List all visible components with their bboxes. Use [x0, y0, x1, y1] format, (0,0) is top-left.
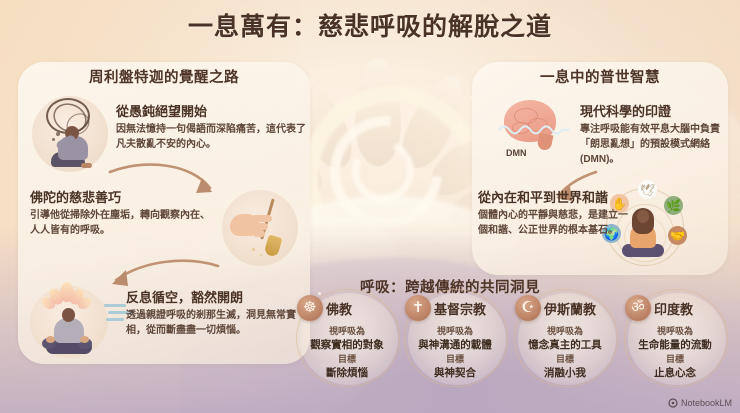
notebooklm-icon [668, 398, 678, 408]
left-block-3: 反息循空，豁然開朗 透過親證呼吸的剎那生滅，洞見無常實相，從而斷盡盡一切煩惱。 [126, 290, 302, 338]
religion-card-hinduism[interactable]: ॐ 印度教 視呼吸為 生命能量的流動 目標 止息心念 [622, 291, 728, 387]
dove-icon: 🕊 [638, 180, 657, 199]
dmn-caption: DMN [506, 148, 527, 158]
religion-goal: 與神契合 [402, 366, 508, 381]
handshake-icon: 🤝 [668, 226, 687, 245]
religion-goal: 斷除煩惱 [294, 366, 400, 381]
left-panel-title: 周利盤特迦的覺醒之路 [18, 66, 310, 87]
meditator-illustration [30, 286, 108, 358]
sad-person-illustration [32, 96, 108, 172]
left-block-2: 佛陀的慈悲善巧 引導他從掃除外在塵垢，轉向觀察內在、人人皆有的呼吸。 [30, 190, 216, 238]
label-goal: 目標 [512, 353, 618, 366]
right-block-1: 現代科學的印證 專注呼吸能有效平息大腦中負責「朗思亂想」的預設模式網絡 (DMN… [580, 104, 726, 167]
religion-view: 與神溝通的載體 [402, 338, 508, 353]
religion-view: 憶念真主的工具 [512, 338, 618, 353]
religion-view: 觀察實相的對象 [294, 338, 400, 353]
right-block-2: 從內在和平到世界和諧 個體內心的平靜與慈悲，是建立一個和諧、公正世界的根本基石。 [478, 190, 628, 238]
right-panel-title: 一息中的普世智慧 [472, 66, 728, 87]
religion-card-islam[interactable]: ☪ 伊斯蘭教 視呼吸為 憶念真主的工具 目標 消融小我 [512, 291, 618, 387]
right-block-1-head: 現代科學的印證 [580, 104, 726, 120]
watermark: NotebookLM [668, 398, 732, 408]
religion-goal: 消融小我 [512, 366, 618, 381]
religion-name: 佛教 [326, 299, 352, 318]
religion-goal: 止息心念 [622, 366, 728, 381]
right-block-2-body: 個體內心的平靜與慈悲，是建立一個和諧、公正世界的根本基石。 [478, 208, 628, 238]
dharma-wheel-icon: ☸ [297, 295, 323, 321]
religion-card-christianity[interactable]: ✝ 基督宗教 視呼吸為 與神溝通的載體 目標 與神契合 [402, 291, 508, 387]
label-view: 視呼吸為 [512, 325, 618, 338]
right-block-2-head: 從內在和平到世界和諧 [478, 190, 628, 206]
sparkle [458, 126, 461, 129]
label-view: 視呼吸為 [294, 325, 400, 338]
star-crescent-icon: ☪ [515, 295, 541, 321]
religion-name: 印度教 [654, 299, 693, 318]
right-block-1-body: 專注呼吸能有效平息大腦中負責「朗思亂想」的預設模式網絡 (DMN)。 [580, 122, 726, 167]
broom-illustration [222, 190, 298, 266]
left-block-2-body: 引導他從掃除外在塵垢，轉向觀察內在、人人皆有的呼吸。 [30, 208, 216, 238]
watermark-label: NotebookLM [681, 398, 732, 408]
brain-illustration: DMN [492, 96, 574, 160]
religion-name: 基督宗教 [434, 299, 486, 318]
religion-card-buddhism[interactable]: ☸ 佛教 視呼吸為 觀察實相的對象 目標 斷除煩惱 [294, 291, 400, 387]
left-block-2-head: 佛陀的慈悲善巧 [30, 190, 216, 206]
left-block-3-body: 透過親證呼吸的剎那生滅，洞見無常實相，從而斷盡盡一切煩惱。 [126, 308, 302, 338]
left-block-1-head: 從愚鈍絕望開始 [116, 104, 306, 120]
left-block-1-body: 因無法憶持一句偈語而深陷痛苦，這代表了凡夫散亂不安的內心。 [116, 122, 306, 152]
religion-name: 伊斯蘭教 [544, 299, 596, 318]
cross-icon: ✝ [405, 295, 431, 321]
label-goal: 目標 [402, 353, 508, 366]
label-view: 視呼吸為 [402, 325, 508, 338]
label-goal: 目標 [622, 353, 728, 366]
infographic-canvas: 一息萬有：慈悲呼吸的解脫之道 周利盤特迦的覺醒之路 從愚鈍絕望開始 因無法憶持一… [0, 0, 740, 413]
olive-branch-icon: 🌿 [664, 196, 683, 215]
om-icon: ॐ [625, 295, 651, 321]
page-title: 一息萬有：慈悲呼吸的解脫之道 [0, 7, 740, 43]
label-goal: 目標 [294, 353, 400, 366]
label-view: 視呼吸為 [622, 325, 728, 338]
eeg-wave-icon [494, 122, 574, 136]
religion-view: 生命能量的流動 [622, 338, 728, 353]
left-block-1: 從愚鈍絕望開始 因無法憶持一句偈語而深陷痛苦，這代表了凡夫散亂不安的內心。 [116, 104, 306, 152]
